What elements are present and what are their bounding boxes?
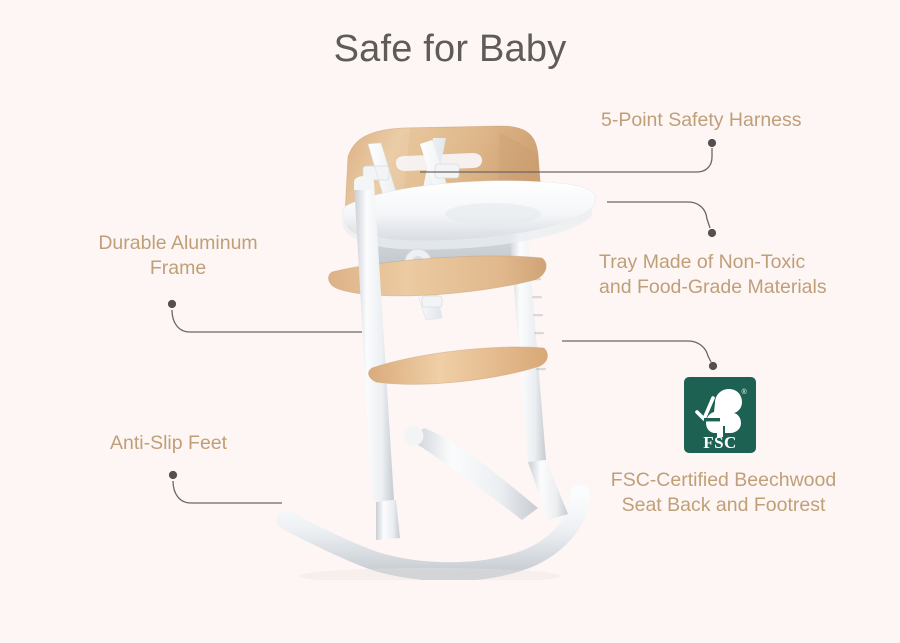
callout-label-feet: Anti-Slip Feet <box>110 431 227 456</box>
fsc-certification-badge: ® FSC <box>684 377 756 453</box>
leader-dot-frame <box>168 300 176 308</box>
callout-leader-lines <box>0 0 900 643</box>
callout-label-frame: Durable Aluminum Frame <box>84 231 272 281</box>
leader-line-feet <box>173 481 282 503</box>
leader-line-fsc <box>562 341 711 362</box>
callout-label-harness: 5-Point Safety Harness <box>601 108 802 133</box>
leader-dot-fsc <box>709 362 717 370</box>
callout-label-tray: Tray Made of Non-Toxic and Food-Grade Ma… <box>599 250 827 300</box>
callout-label-fsc: FSC-Certified Beechwood Seat Back and Fo… <box>597 468 850 518</box>
fsc-mark-text: FSC <box>703 433 737 452</box>
leader-dot-feet <box>169 471 177 479</box>
leader-line-tray <box>607 202 710 228</box>
leader-line-harness <box>420 148 712 172</box>
leader-dot-tray <box>708 229 716 237</box>
leader-line-frame <box>172 310 362 332</box>
leader-dot-harness <box>708 139 716 147</box>
infographic-canvas: Safe for Baby <box>0 0 900 643</box>
registered-symbol: ® <box>742 388 748 396</box>
